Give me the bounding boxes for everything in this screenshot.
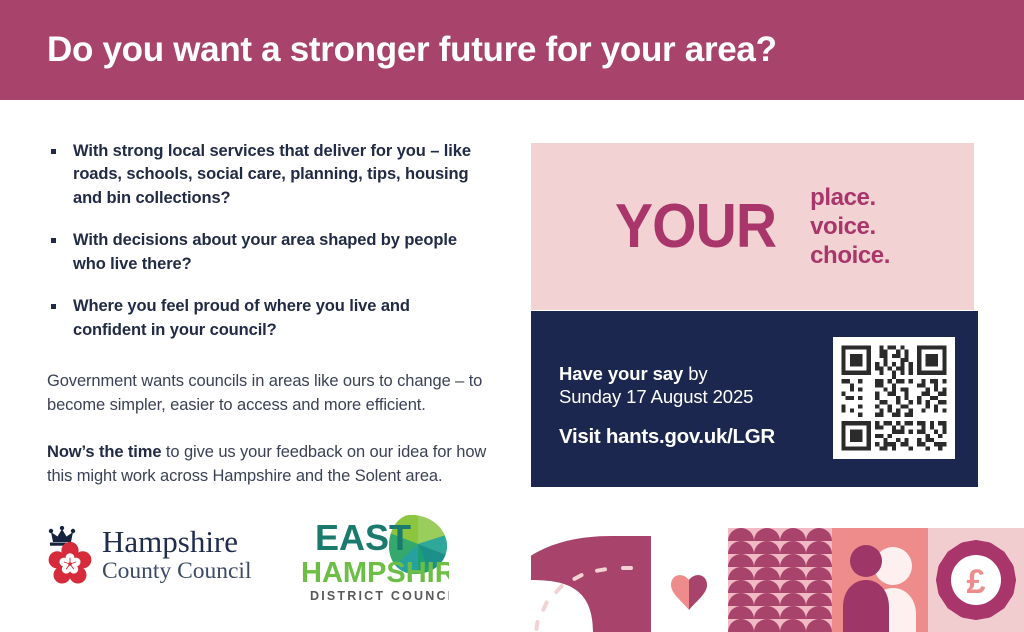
- svg-text:£: £: [967, 563, 986, 601]
- cta-visit-url[interactable]: Visit hants.gov.uk/LGR: [559, 425, 775, 449]
- list-item-text: With strong local services that deliver …: [73, 142, 471, 207]
- page-title: Do you want a stronger future for your a…: [47, 30, 777, 70]
- qr-code-icon[interactable]: [833, 337, 955, 459]
- svg-text:DISTRICT COUNCIL: DISTRICT COUNCIL: [310, 589, 449, 603]
- your-headline: YOUR: [615, 198, 776, 255]
- logo-row: Hampshire County Council EAST HAMPSHIRE …: [47, 512, 449, 607]
- your-place-voice-choice-panel: YOUR place. voice. choice.: [531, 143, 974, 310]
- left-content-column: With strong local services that deliver …: [47, 140, 487, 489]
- svg-text:EAST: EAST: [315, 517, 411, 558]
- cta-by-word: by: [683, 363, 707, 384]
- call-to-action-paragraph: Now’s the time to give us your feedback …: [47, 441, 487, 489]
- cta-deadline-date: Sunday 17 August 2025: [559, 386, 753, 407]
- call-to-action-emphasis: Now’s the time: [47, 443, 161, 461]
- road-and-house-icon: [531, 528, 728, 632]
- list-item-text: Where you feel proud of where you live a…: [73, 297, 410, 338]
- benefits-bullet-list: With strong local services that deliver …: [47, 140, 487, 342]
- your-stack-item-choice: choice.: [810, 241, 890, 270]
- crown-tudor-rose-icon: [47, 526, 93, 584]
- east-hampshire-district-council-logo: EAST HAMPSHIRE DISTRICT COUNCIL: [299, 512, 449, 607]
- header-banner: Do you want a stronger future for your a…: [0, 0, 1024, 100]
- your-stack-item-voice: voice.: [810, 212, 890, 241]
- decorative-icon-strip: £: [531, 528, 1024, 632]
- svg-text:HAMPSHIRE: HAMPSHIRE: [301, 557, 449, 589]
- your-stack-list: place. voice. choice.: [810, 183, 890, 271]
- hcc-logo-line-2: County Council: [102, 560, 252, 584]
- pound-coin-icon: £: [928, 528, 1024, 632]
- hampshire-county-council-wordmark: Hampshire County Council: [102, 526, 252, 584]
- list-item: With decisions about your area shaped by…: [47, 229, 487, 276]
- call-to-action-panel: Have your say by Sunday 17 August 2025 V…: [531, 311, 978, 487]
- two-people-icon: [832, 528, 928, 632]
- bullet-square-icon: [51, 238, 56, 243]
- intro-paragraph: Government wants councils in areas like …: [47, 370, 487, 418]
- bullet-square-icon: [51, 149, 56, 154]
- your-stack-item-place: place.: [810, 183, 890, 212]
- bullet-square-icon: [51, 304, 56, 309]
- list-item: Where you feel proud of where you live a…: [47, 295, 487, 342]
- list-item-text: With decisions about your area shaped by…: [73, 231, 457, 272]
- hampshire-county-council-logo: Hampshire County Council: [47, 526, 252, 584]
- cta-text-block: Have your say by Sunday 17 August 2025 V…: [559, 362, 775, 449]
- list-item: With strong local services that deliver …: [47, 140, 487, 210]
- hcc-logo-line-1: Hampshire: [102, 526, 252, 557]
- cta-deadline-line: Have your say by Sunday 17 August 2025: [559, 362, 775, 409]
- cta-have-your-say: Have your say: [559, 363, 683, 384]
- roof-scales-pattern-icon: [728, 528, 832, 632]
